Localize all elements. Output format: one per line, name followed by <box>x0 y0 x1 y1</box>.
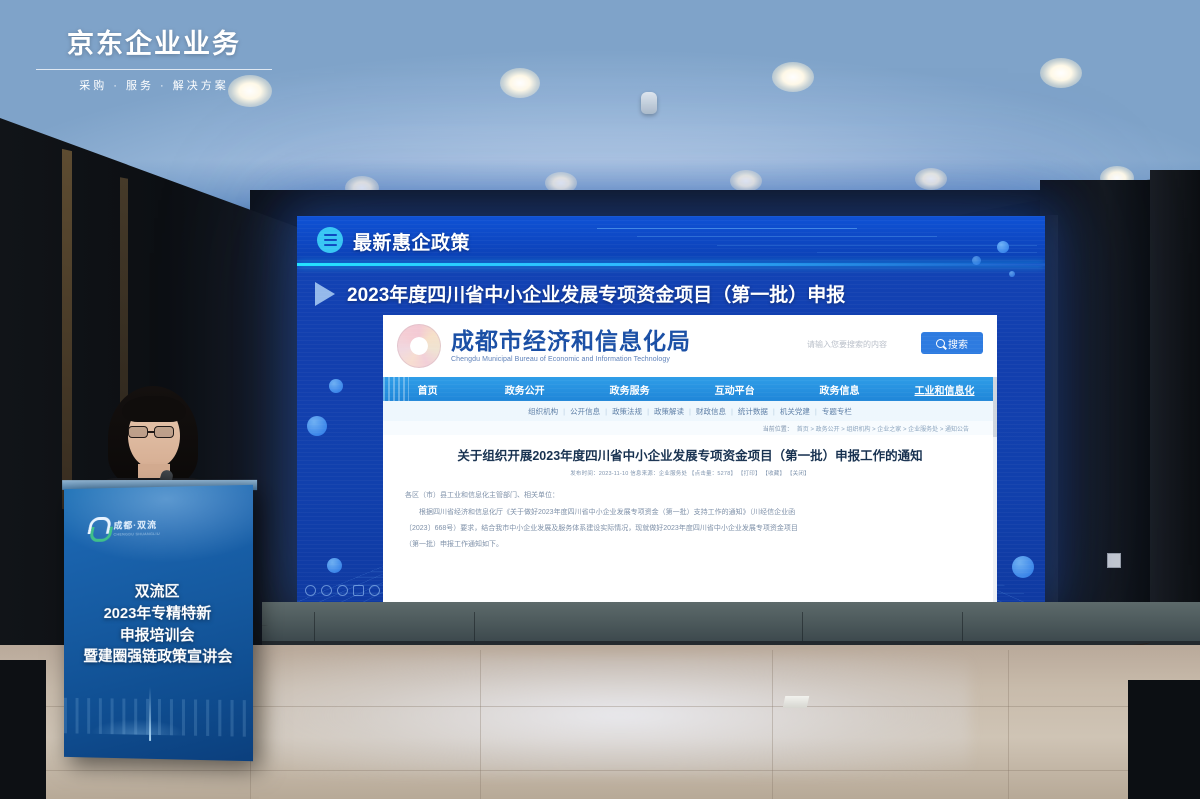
decor-dot <box>972 256 981 265</box>
floor-shadow-right <box>1128 680 1200 799</box>
nav-item-interaction-platform[interactable]: 互动平台 <box>682 382 787 397</box>
watermark-divider <box>36 69 272 70</box>
eyeglasses-left-lens <box>128 426 148 438</box>
article-paragraph: （第一批）申报工作通知如下。 <box>405 538 975 552</box>
podium-logo-en: CHENGDU SHUANGLIU <box>114 532 160 537</box>
floor-tile-seam <box>1008 650 1009 799</box>
floor-tile-seam <box>46 770 1200 771</box>
breadcrumb-label: 当前位置： <box>763 424 793 433</box>
decor-dot <box>327 558 342 573</box>
subnav-item-special-columns[interactable]: 专题专栏 <box>822 406 852 417</box>
floor-cable <box>248 598 298 626</box>
diamond-icon <box>337 585 348 596</box>
search-icon <box>936 339 945 348</box>
org-name-en: Chengdu Municipal Bureau of Economic and… <box>451 356 691 363</box>
decor-dot <box>997 241 1009 253</box>
decor-dot <box>1012 556 1034 578</box>
breadcrumb-path[interactable]: 首页 > 政务公开 > 组织机构 > 企业之家 > 企业服务处 > 通知公告 <box>797 424 969 433</box>
circle-icon <box>305 585 316 596</box>
hamburger-circle-icon <box>317 227 343 253</box>
downlight <box>730 170 762 192</box>
square-icon <box>353 585 364 596</box>
photo-scene: 最新惠企政策 2023年度四川省中小企业发展专项资金项目（第一批）申报 <box>0 0 1200 799</box>
podium-banner: 成都·双流 CHENGDU SHUANGLIU 双流区 2023年专精特新 申报… <box>64 485 253 761</box>
subnav-item-party-building[interactable]: 机关党建 <box>780 406 810 417</box>
search-button[interactable]: 搜索 <box>921 332 983 354</box>
subnav-item-public-info[interactable]: 公开信息 <box>570 406 600 417</box>
wall-wood-trim <box>62 149 72 511</box>
decor-dot <box>307 416 327 436</box>
org-name-cn: 成都市经济和信息化局 <box>451 329 691 353</box>
chengdu-emblem-icon <box>397 324 441 368</box>
downlight <box>1040 58 1082 88</box>
nav-item-industry-it[interactable]: 工业和信息化 <box>892 382 997 397</box>
wall-outlet-plate <box>1107 553 1121 568</box>
subnav-item-policy-regulations[interactable]: 政策法规 <box>612 406 642 417</box>
search-input[interactable]: 请输入您要搜索的内容 <box>807 339 887 350</box>
play-triangle-icon <box>315 282 335 306</box>
podium-logo-cn: 成都·双流 <box>114 518 160 532</box>
downlight <box>500 68 540 98</box>
slide-header-title: 最新惠企政策 <box>353 228 470 255</box>
breadcrumb: 当前位置： 首页 > 政务公开 > 组织机构 > 企业之家 > 企业服务处 > … <box>383 421 997 435</box>
presentation-slide: 最新惠企政策 2023年度四川省中小企业发展专项资金项目（第一批）申报 <box>297 216 1045 602</box>
eyeglasses-right-lens <box>154 426 174 438</box>
downlight <box>772 62 814 92</box>
subnav-item-policy-interpretation[interactable]: 政策解读 <box>654 406 684 417</box>
nav-item-government-info[interactable]: 政务信息 <box>787 382 892 397</box>
watermark-title: 京东企业业务 <box>34 22 274 61</box>
led-screen: 最新惠企政策 2023年度四川省中小企业发展专项资金项目（第一批）申报 <box>297 216 1045 602</box>
article-paragraph: 〔2023〕668号）要求，结合我市中小企业发展及服务体系建设实际情况，现就做好… <box>405 522 975 536</box>
slide-header-underline <box>297 263 1045 266</box>
article-title: 关于组织开展2023年度四川省中小企业发展专项资金项目（第一批）申报工作的通知 <box>399 448 981 464</box>
shuangliu-logo: 成都·双流 CHENGDU SHUANGLIU <box>87 515 160 540</box>
podium-skyline-graphic <box>64 698 253 737</box>
podium-title-line: 暨建圈强链政策宣讲会 <box>64 646 253 669</box>
site-subnav: 组织机构| 公开信息| 政策法规| 政策解读| 财政信息| 统计数据| 机关党建… <box>383 401 997 421</box>
floor-tile-seam <box>480 650 481 799</box>
site-header: 成都市经济和信息化局 Chengdu Municipal Bureau of E… <box>383 315 997 377</box>
speaker-fringe <box>122 396 186 422</box>
watermark-subtitle: 采购 · 服务 · 解决方案 <box>34 77 274 93</box>
decor-dot <box>1009 271 1015 277</box>
page-scrollbar[interactable] <box>993 377 997 602</box>
circle-icon <box>369 585 380 596</box>
eyeglasses-bridge <box>148 431 154 433</box>
subnav-item-statistics[interactable]: 统计数据 <box>738 406 768 417</box>
podium-title-line: 双流区 <box>64 580 253 603</box>
article-body: 各区（市）县工业和信息化主管部门、相关单位： 根据四川省经济和信息化厅《关于做好… <box>405 489 975 552</box>
site-nav: 首页 政务公开 政务服务 互动平台 政务信息 工业和信息化 <box>383 377 997 401</box>
floor-paper-item <box>783 696 810 708</box>
swoosh-icon <box>87 516 108 540</box>
watermark: 京东企业业务 采购 · 服务 · 解决方案 <box>34 22 274 93</box>
subnav-item-organization[interactable]: 组织机构 <box>528 406 558 417</box>
nav-item-government-openness[interactable]: 政务公开 <box>472 382 577 397</box>
downlight <box>915 168 947 190</box>
floor-light-reflection <box>270 655 970 775</box>
podium-title-line: 申报培训会 <box>64 624 253 646</box>
nav-item-government-services[interactable]: 政务服务 <box>577 382 682 397</box>
website-screenshot: 成都市经济和信息化局 Chengdu Municipal Bureau of E… <box>383 315 997 602</box>
decor-dot <box>329 379 343 393</box>
floor-tile-seam <box>772 650 773 799</box>
podium-title: 双流区 2023年专精特新 申报培训会 暨建圈强链政策宣讲会 <box>64 580 253 668</box>
article-meta: 发布时间：2023-11-10 信息来源：企业服务处 【点击量：5278】 【打… <box>383 469 997 477</box>
slide-section-title: 2023年度四川省中小企业发展专项资金项目（第一批）申报 <box>347 280 845 307</box>
floor-shadow-left <box>0 660 46 799</box>
circle-icon <box>321 585 332 596</box>
smoke-detector-icon <box>641 92 657 114</box>
podium-title-line: 2023年专精特新 <box>64 602 253 624</box>
search-button-label: 搜索 <box>948 336 968 351</box>
subnav-item-fiscal-info[interactable]: 财政信息 <box>696 406 726 417</box>
article-paragraph: 各区（市）县工业和信息化主管部门、相关单位： <box>405 489 975 503</box>
nav-item-home[interactable]: 首页 <box>383 382 472 397</box>
article-paragraph: 根据四川省经济和信息化厅《关于做好2023年度四川省中小企业发展专项资金（第一批… <box>405 506 975 520</box>
site-branding: 成都市经济和信息化局 Chengdu Municipal Bureau of E… <box>451 329 691 362</box>
